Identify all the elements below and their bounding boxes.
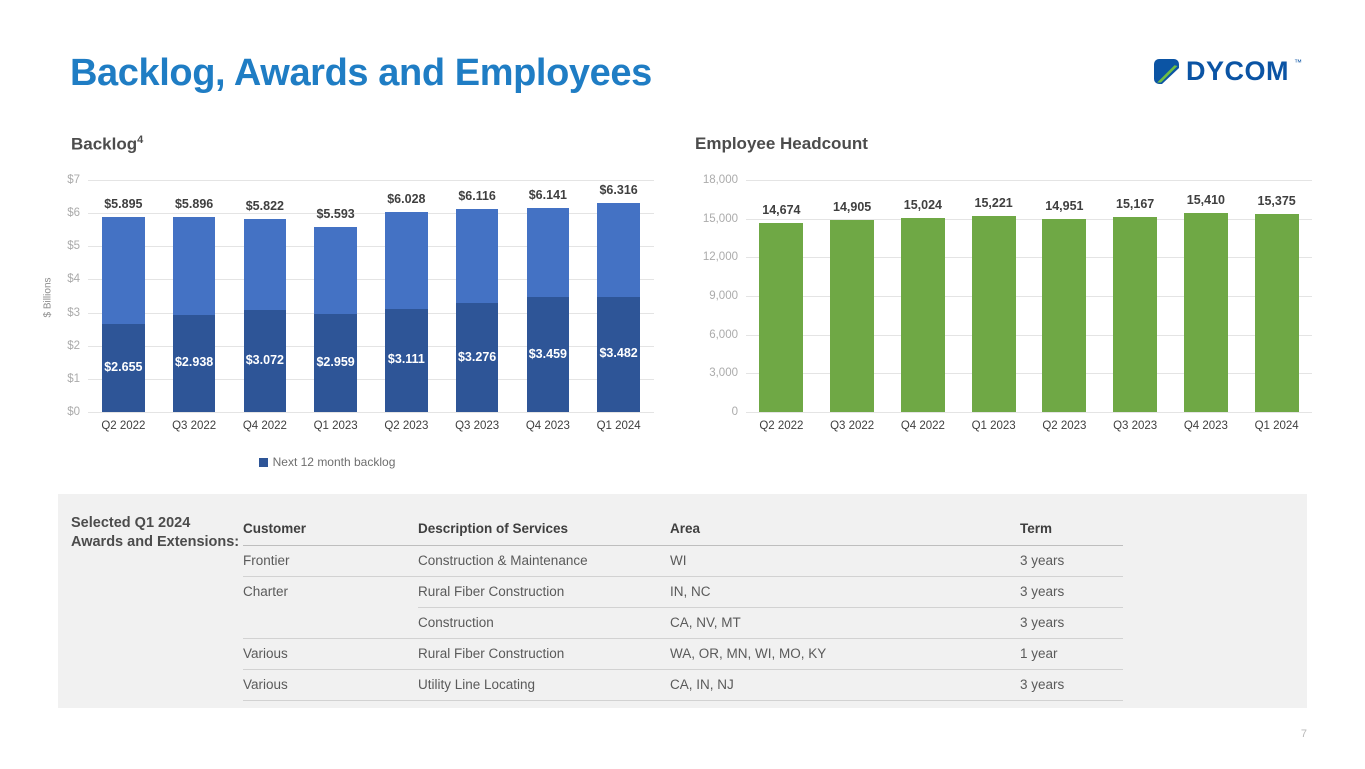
cell-term: 3 years [1020,670,1123,701]
cell-customer [243,608,418,639]
legend-label-next12: Next 12 month backlog [273,455,396,469]
headcount-x-axis: Q2 2022Q3 2022Q4 2022Q1 2023Q2 2023Q3 20… [746,420,1312,440]
cell-term: 3 years [1020,546,1123,577]
backlog-bar [597,203,639,412]
headcount-y-tick: 9,000 [709,290,738,302]
page-number: 7 [1301,728,1307,740]
backlog-y-tick: $4 [67,273,80,285]
headcount-plot-area: 03,0006,0009,00012,00015,00018,00014,674… [746,180,1312,412]
backlog-segment-label: $3.072 [244,353,286,367]
headcount-value-label: 15,024 [901,198,945,212]
backlog-total-label: $5.822 [244,199,286,213]
cell-description: Construction & Maintenance [418,546,670,577]
backlog-segment-label: $2.959 [314,355,356,369]
column-header-customer: Customer [243,521,418,546]
headcount-bar [1255,214,1299,412]
headcount-x-tick: Q1 2023 [972,420,1016,432]
table-row: FrontierConstruction & MaintenanceWI3 ye… [243,546,1123,577]
backlog-y-tick: $1 [67,373,80,385]
backlog-bar-segment-remaining [456,209,498,303]
cell-customer: Charter [243,577,418,608]
headcount-section-title: Employee Headcount [695,134,868,154]
headcount-y-tick: 0 [732,406,738,418]
backlog-section-title: Backlog4 [71,134,143,155]
cell-area: CA, NV, MT [670,608,1020,639]
cell-description: Utility Line Locating [418,670,670,701]
backlog-chart: $ Billions $0$1$2$3$4$5$6$7$5.895$2.655$… [44,172,654,422]
backlog-total-label: $5.895 [102,197,144,211]
backlog-bar-segment-remaining [244,219,286,310]
backlog-y-tick: $2 [67,340,80,352]
headcount-value-label: 15,375 [1255,194,1299,208]
backlog-x-axis: Q2 2022Q3 2022Q4 2022Q1 2023Q2 2023Q3 20… [88,420,654,440]
headcount-x-tick: Q3 2023 [1113,420,1157,432]
headcount-x-tick: Q4 2023 [1184,420,1228,432]
column-header-description: Description of Services [418,521,670,546]
backlog-bar-segment-remaining [597,203,639,297]
backlog-bar-segment-remaining [102,217,144,324]
cell-description: Rural Fiber Construction [418,639,670,670]
cell-area: WI [670,546,1020,577]
backlog-bar [527,208,569,412]
headcount-gridline [746,412,1312,413]
backlog-total-label: $6.316 [597,183,639,197]
backlog-y-tick: $7 [67,174,80,186]
slide-canvas: Backlog, Awards and Employees DYCOM ™ Ba… [0,0,1365,769]
awards-caption: Selected Q1 2024 Awards and Extensions: [71,514,241,552]
headcount-bar [830,220,874,412]
headcount-bar [759,223,803,412]
column-header-area: Area [670,521,1020,546]
backlog-segment-label: $3.276 [456,350,498,364]
backlog-bar [385,212,427,412]
backlog-x-tick: Q1 2024 [597,420,641,432]
headcount-x-tick: Q2 2023 [1042,420,1086,432]
backlog-bar [173,217,215,412]
dycom-logo: DYCOM ™ [1152,56,1302,86]
headcount-bar [1113,217,1157,412]
headcount-chart: 03,0006,0009,00012,00015,00018,00014,674… [690,172,1315,422]
backlog-total-label: $6.141 [527,188,569,202]
backlog-x-tick: Q2 2022 [101,420,145,432]
backlog-segment-label: $2.655 [102,360,144,374]
backlog-bar-segment-remaining [173,217,215,315]
table-row: CharterRural Fiber ConstructionIN, NC3 y… [243,577,1123,608]
awards-table: Customer Description of Services Area Te… [243,521,1123,701]
cell-description: Rural Fiber Construction [418,577,670,608]
headcount-gridline [746,180,1312,181]
awards-header-row: Customer Description of Services Area Te… [243,521,1123,546]
dycom-logo-mark [1152,57,1181,86]
cell-term: 3 years [1020,608,1123,639]
backlog-section-label: Backlog [71,135,137,154]
trademark-symbol: ™ [1294,58,1302,67]
backlog-y-tick: $6 [67,207,80,219]
backlog-total-label: $5.593 [314,207,356,221]
backlog-bar-segment-remaining [527,208,569,297]
backlog-gridline [88,213,654,214]
backlog-bar [314,227,356,412]
awards-table-body: FrontierConstruction & MaintenanceWI3 ye… [243,546,1123,701]
headcount-x-tick: Q3 2022 [830,420,874,432]
backlog-segment-label: $3.482 [597,346,639,360]
headcount-value-label: 15,221 [972,196,1016,210]
backlog-bar [456,209,498,412]
headcount-value-label: 14,674 [759,203,803,217]
backlog-y-tick: $3 [67,307,80,319]
cell-description: Construction [418,608,670,639]
backlog-plot-area: $0$1$2$3$4$5$6$7$5.895$2.655$5.896$2.938… [88,180,654,412]
backlog-bar-segment-remaining [385,212,427,309]
cell-term: 3 years [1020,577,1123,608]
backlog-x-tick: Q3 2023 [455,420,499,432]
headcount-y-tick: 3,000 [709,367,738,379]
dycom-logo-text: DYCOM [1186,58,1289,85]
backlog-gridline [88,180,654,181]
awards-panel: Selected Q1 2024 Awards and Extensions: … [58,494,1307,708]
backlog-bar [102,217,144,412]
legend-swatch-next12 [259,458,268,467]
backlog-gridline [88,412,654,413]
backlog-bar [244,219,286,412]
backlog-legend: Next 12 month backlog [44,455,610,469]
headcount-value-label: 14,951 [1042,199,1086,213]
headcount-x-tick: Q4 2022 [901,420,945,432]
backlog-footnote-marker: 4 [137,134,143,146]
backlog-total-label: $5.896 [173,197,215,211]
backlog-segment-label: $3.459 [527,347,569,361]
cell-area: IN, NC [670,577,1020,608]
backlog-x-tick: Q4 2022 [243,420,287,432]
cell-customer: Various [243,639,418,670]
cell-area: WA, OR, MN, WI, MO, KY [670,639,1020,670]
page-title: Backlog, Awards and Employees [70,52,652,95]
backlog-bar-segment-remaining [314,227,356,314]
headcount-x-tick: Q1 2024 [1255,420,1299,432]
headcount-x-tick: Q2 2022 [759,420,803,432]
headcount-value-label: 15,410 [1184,193,1228,207]
headcount-bar [1184,213,1228,412]
backlog-x-tick: Q3 2022 [172,420,216,432]
headcount-y-tick: 18,000 [703,174,738,186]
backlog-y-axis-label: $ Billions [43,277,54,317]
backlog-segment-label: $2.938 [173,355,215,369]
backlog-x-tick: Q4 2023 [526,420,570,432]
table-row: VariousUtility Line LocatingCA, IN, NJ3 … [243,670,1123,701]
headcount-y-tick: 6,000 [709,329,738,341]
headcount-y-tick: 12,000 [703,251,738,263]
cell-customer: Various [243,670,418,701]
awards-table-head: Customer Description of Services Area Te… [243,521,1123,546]
backlog-y-tick: $0 [67,406,80,418]
backlog-x-tick: Q2 2023 [384,420,428,432]
backlog-x-tick: Q1 2023 [314,420,358,432]
backlog-total-label: $6.028 [385,192,427,206]
table-row: ConstructionCA, NV, MT3 years [243,608,1123,639]
backlog-y-tick: $5 [67,240,80,252]
headcount-value-label: 15,167 [1113,197,1157,211]
cell-area: CA, IN, NJ [670,670,1020,701]
headcount-y-tick: 15,000 [703,213,738,225]
column-header-term: Term [1020,521,1123,546]
cell-term: 1 year [1020,639,1123,670]
backlog-segment-label: $3.111 [385,352,427,366]
cell-customer: Frontier [243,546,418,577]
headcount-bar [972,216,1016,412]
headcount-bar [901,218,945,412]
headcount-value-label: 14,905 [830,200,874,214]
table-row: VariousRural Fiber ConstructionWA, OR, M… [243,639,1123,670]
backlog-total-label: $6.116 [456,189,498,203]
headcount-bar [1042,219,1086,412]
